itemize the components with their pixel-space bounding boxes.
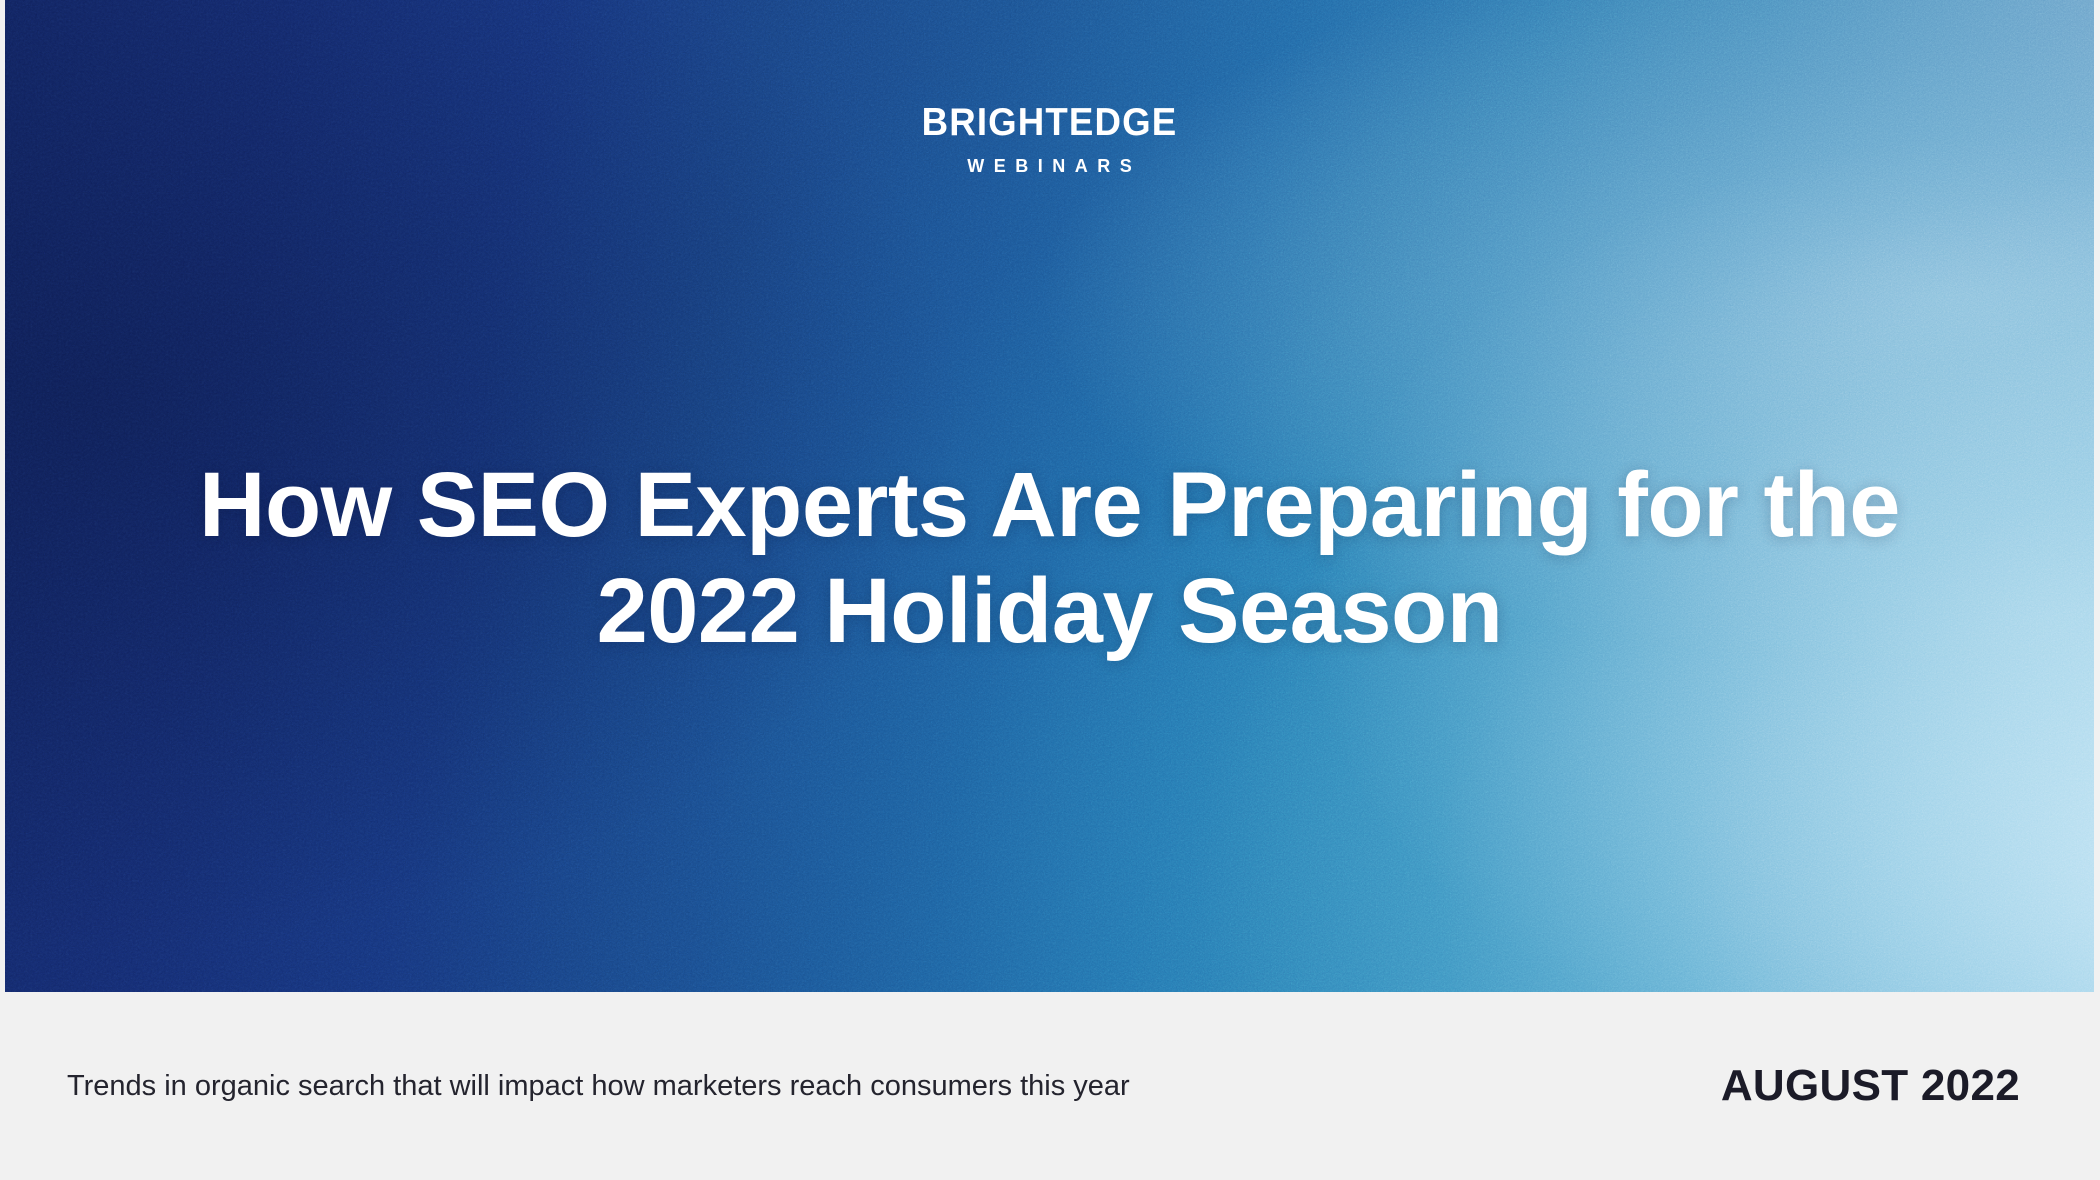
- brand-sub-label: WEBINARS: [5, 157, 2094, 175]
- brightedge-webinars-logo: BRIGHTEDGE WEBINARS: [5, 103, 2094, 175]
- slide-title: How SEO Experts Are Preparing for the 20…: [115, 452, 1984, 665]
- slide-title-line-1: How SEO Experts Are Preparing for the: [115, 452, 1984, 559]
- slide-date: AUGUST 2022: [1721, 1060, 2020, 1113]
- hero-banner: BRIGHTEDGE WEBINARS How SEO Experts Are …: [5, 0, 2094, 992]
- slide-footer-bar: Trends in organic search that will impac…: [0, 992, 2100, 1180]
- slide-title-line-2: 2022 Holiday Season: [115, 558, 1984, 665]
- brand-wordmark: BRIGHTEDGE: [68, 103, 2032, 142]
- slide-subtitle: Trends in organic search that will impac…: [67, 1069, 1130, 1104]
- presentation-slide: BRIGHTEDGE WEBINARS How SEO Experts Are …: [0, 0, 2100, 1180]
